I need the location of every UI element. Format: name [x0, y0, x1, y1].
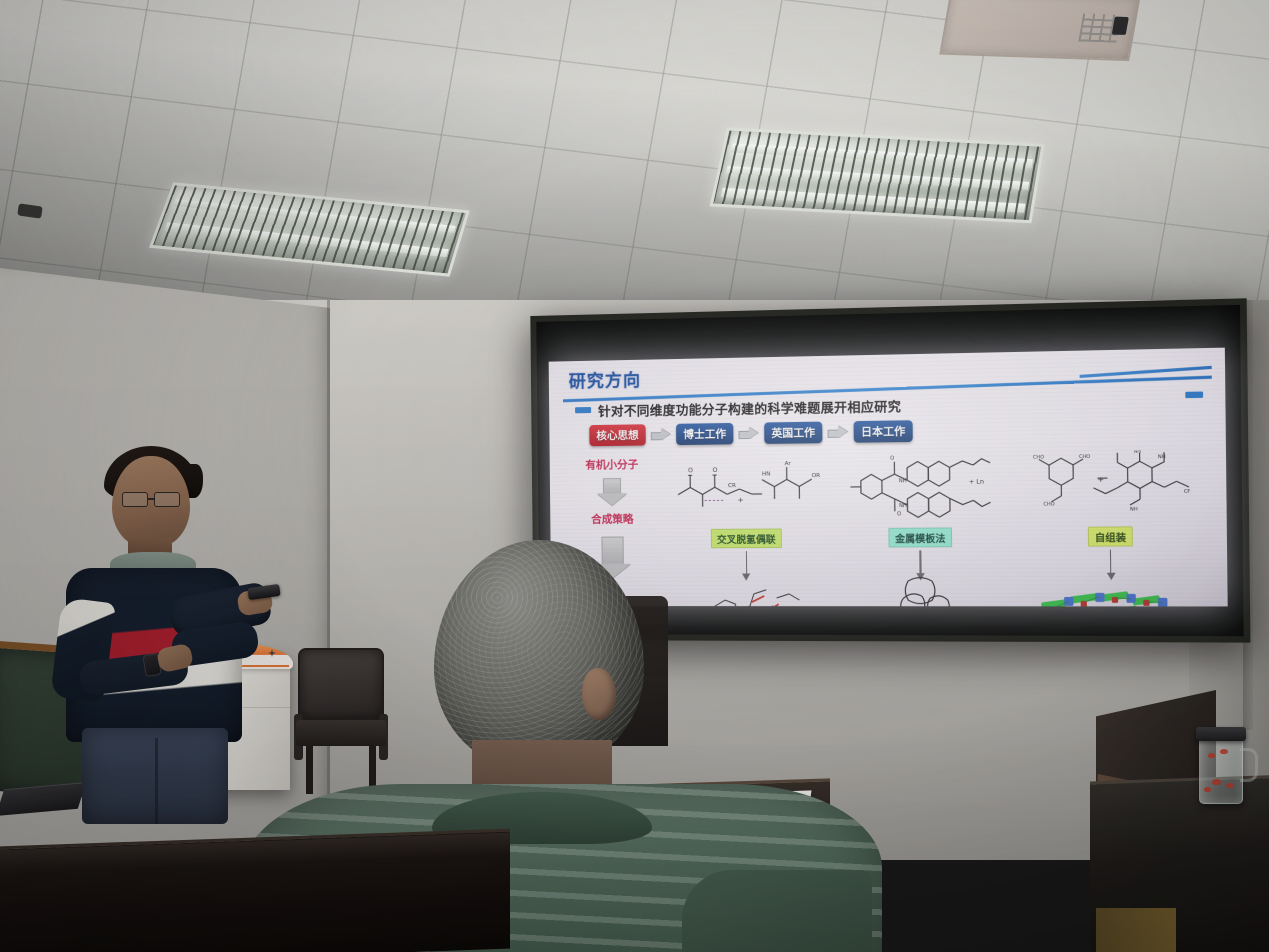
svg-text:NH: NH — [898, 478, 906, 484]
svg-text:CF: CF — [1184, 489, 1191, 495]
svg-text:CHO: CHO — [1079, 454, 1091, 460]
bis-naphthyl-amide-ligand-icon: O O NH NH + Ln — [832, 452, 1009, 528]
malonate-amine-coupling-icon: O O CR HN Ar OR + — [660, 454, 832, 529]
bullet-dash-right-icon — [1185, 391, 1203, 398]
conference-room-scene: 研究方向 针对不同维度功能分子构建的科学难题展开相应研究 核心思想 博士工作 英… — [0, 0, 1269, 952]
method-tag-self-assembly: 自组装 — [1088, 526, 1133, 546]
column-three-dimensional: O O NH NH + Ln 金属模板法 — [832, 452, 1011, 606]
arrow-right-icon-1 — [651, 428, 671, 441]
svg-text:+ Ln: + Ln — [968, 478, 983, 485]
flow-box-core-idea: 核心思想 — [589, 424, 646, 446]
svg-text:+: + — [1098, 475, 1105, 485]
tea-mug-handle — [1240, 748, 1258, 782]
workflow-row: 核心思想 博士工作 英国工作 日本工作 — [563, 416, 1212, 447]
slide-headline: 针对不同维度功能分子构建的科学难题展开相应研究 — [598, 395, 901, 419]
ceiling-light-icon-right — [710, 128, 1045, 224]
flow-box-japan-work: 日本工作 — [854, 420, 913, 442]
arrow-down-icon-col3 — [1110, 550, 1112, 573]
svg-text:O: O — [688, 467, 693, 474]
right-lectern-panel — [1096, 908, 1176, 952]
axis-label-organic-small-molecule: 有机小分子 — [585, 457, 638, 473]
presenter-legs-jeans — [82, 728, 228, 824]
svg-text:Ar: Ar — [785, 461, 792, 467]
arrow-right-icon-3 — [827, 425, 848, 439]
arrow-down-icon-1 — [603, 478, 621, 494]
svg-text:NH: NH — [899, 503, 907, 509]
flow-box-phd-work: 博士工作 — [676, 423, 733, 445]
svg-text:O: O — [897, 511, 901, 517]
audience-head — [434, 540, 644, 770]
glasses-icon — [122, 492, 188, 507]
audience-hair-texture — [434, 540, 644, 770]
tea-mug — [1199, 734, 1243, 804]
two-dimensional-layered-lattice-icon — [1010, 575, 1215, 607]
svg-text:+: + — [737, 496, 743, 504]
molecule-model-three-d — [833, 575, 1011, 606]
svg-text:O: O — [713, 467, 718, 474]
audience-ear — [582, 668, 616, 720]
bullet-dash-icon — [575, 407, 591, 413]
three-dimensional-chiral-cage-icon — [833, 575, 1011, 606]
ceiling-access-panel — [939, 0, 1140, 61]
method-tag-metal-template-method: 金属模板法 — [889, 527, 952, 547]
dialdehyde-diamide-monomers-icon: CHO CHO CHO + NH NH NH CF — [1008, 450, 1213, 528]
molecule-scheme-self-assembly: CHO CHO CHO + NH NH NH CF — [1008, 450, 1213, 528]
tea-mug-lid — [1196, 727, 1246, 741]
arrow-down-icon-col2 — [919, 550, 921, 573]
svg-text:OR: OR — [812, 473, 821, 479]
svg-text:CHO: CHO — [1033, 454, 1045, 460]
svg-text:NH: NH — [1134, 450, 1142, 455]
axis-label-synthesis-strategy: 合成策略 — [591, 511, 633, 526]
molecule-scheme-cdc: O O CR HN Ar OR + — [660, 454, 832, 529]
svg-text:NH: NH — [1130, 507, 1138, 513]
molecule-scheme-metal-template: O O NH NH + Ln — [832, 452, 1009, 528]
camera-lens-icon — [1112, 17, 1129, 35]
arrow-right-icon-2 — [738, 427, 759, 441]
svg-text:CHO: CHO — [1044, 501, 1056, 507]
molecule-model-two-d — [1010, 575, 1215, 607]
slide-title: 研究方向 — [569, 366, 642, 393]
svg-text:HN: HN — [762, 471, 771, 477]
svg-text:NH: NH — [1158, 454, 1166, 460]
presenter — [52, 440, 282, 810]
column-two-dimensional: CHO CHO CHO + NH NH NH CF 自组装 — [1008, 450, 1215, 607]
flow-box-uk-work: 英国工作 — [764, 422, 822, 444]
audience-right-arm — [682, 870, 872, 952]
svg-text:O: O — [890, 456, 894, 462]
svg-text:CR: CR — [728, 483, 736, 489]
